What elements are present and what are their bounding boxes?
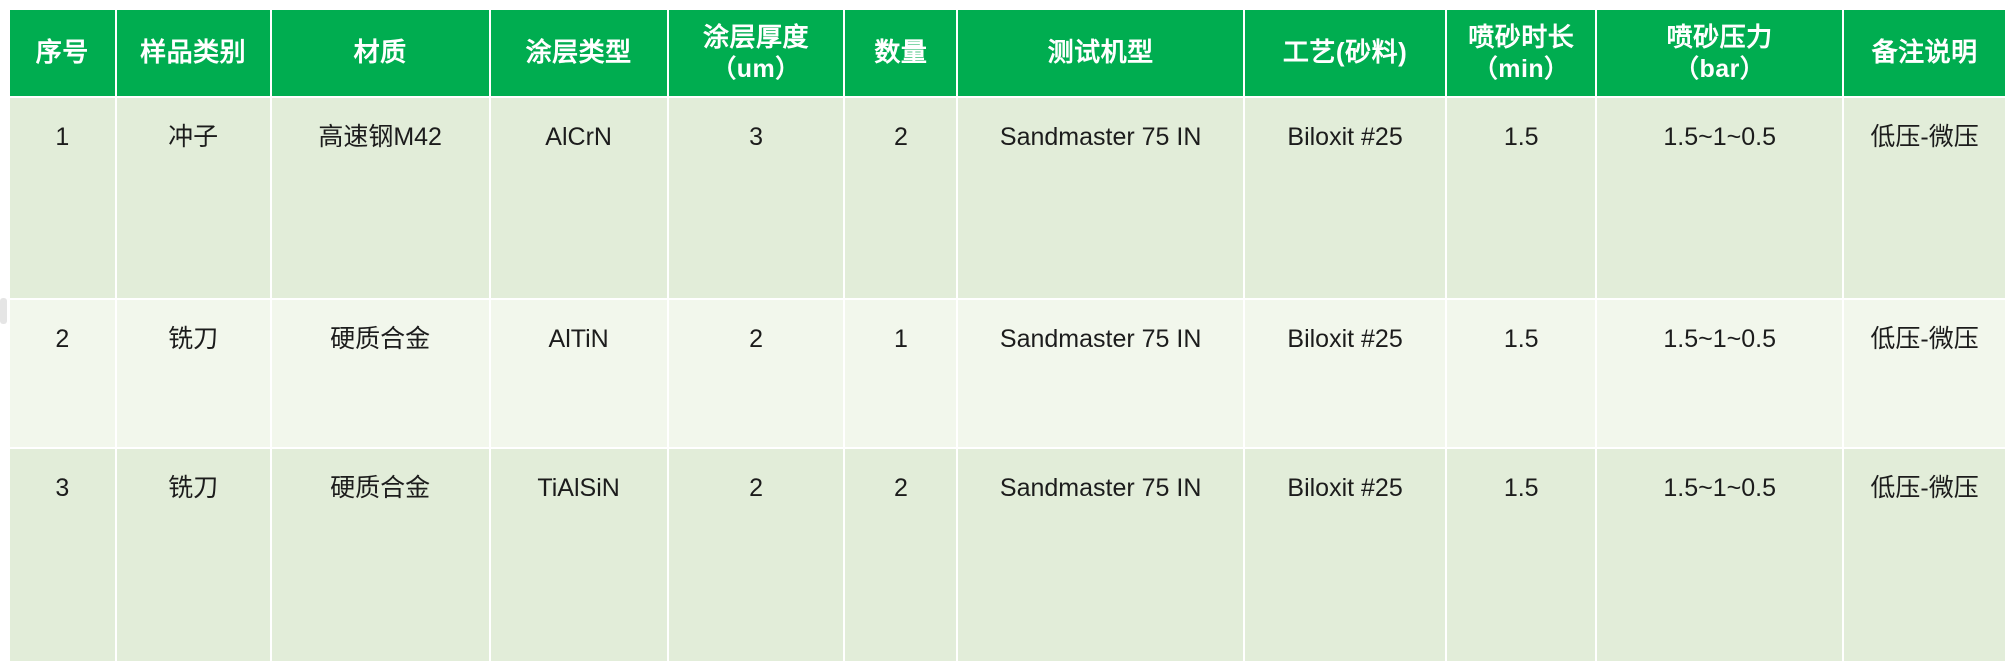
column-header-blasttime[interactable]: 喷砂时长（min） (1447, 10, 1595, 96)
table-row[interactable]: 2铣刀硬质合金AlTiN21Sandmaster 75 INBiloxit #2… (10, 300, 2005, 447)
table-body: 1冲子高速钢M42AlCrN32Sandmaster 75 INBiloxit … (10, 98, 2005, 661)
cell-coating: AlTiN (491, 300, 667, 447)
table-row[interactable]: 1冲子高速钢M42AlCrN32Sandmaster 75 INBiloxit … (10, 98, 2005, 298)
cell-index: 2 (10, 300, 115, 447)
column-header-label: 备注说明 (1872, 37, 1978, 67)
column-header-label: 喷砂时长 (1468, 22, 1574, 52)
column-header-label: 涂层类型 (526, 37, 632, 67)
header-row: 序号样品类别材质涂层类型涂层厚度（um）数量测试机型工艺(砂料)喷砂时长（min… (10, 10, 2005, 96)
cell-quantity: 2 (845, 98, 956, 298)
cell-category: 铣刀 (117, 449, 270, 661)
cell-thickness: 2 (669, 300, 844, 447)
column-header-label: 喷砂压力 (1667, 22, 1773, 52)
table-header: 序号样品类别材质涂层类型涂层厚度（um）数量测试机型工艺(砂料)喷砂时长（min… (10, 10, 2005, 96)
column-header-pressure[interactable]: 喷砂压力（bar） (1597, 10, 1842, 96)
cell-thickness: 3 (669, 98, 844, 298)
cell-blasttime: 1.5 (1447, 98, 1595, 298)
cell-process: Biloxit #25 (1245, 300, 1445, 447)
column-header-label: 材质 (354, 37, 407, 67)
cell-pressure: 1.5~1~0.5 (1597, 300, 1842, 447)
column-header-label: 样品类别 (140, 37, 246, 67)
cell-process: Biloxit #25 (1245, 98, 1445, 298)
cell-machine: Sandmaster 75 IN (958, 98, 1243, 298)
cell-index: 1 (10, 98, 115, 298)
cell-thickness: 2 (669, 449, 844, 661)
cell-remark: 低压-微压 (1844, 98, 2005, 298)
column-header-coating[interactable]: 涂层类型 (491, 10, 667, 96)
cell-category: 铣刀 (117, 300, 270, 447)
spec-table-container: 序号样品类别材质涂层类型涂层厚度（um）数量测试机型工艺(砂料)喷砂时长（min… (8, 8, 2007, 663)
column-header-label: 工艺(砂料) (1283, 37, 1407, 67)
cell-index: 3 (10, 449, 115, 661)
cell-material: 高速钢M42 (272, 98, 489, 298)
cell-machine: Sandmaster 75 IN (958, 300, 1243, 447)
column-header-label: 测试机型 (1048, 37, 1154, 67)
column-header-process[interactable]: 工艺(砂料) (1245, 10, 1445, 96)
table-row[interactable]: 3铣刀硬质合金TiAlSiN22Sandmaster 75 INBiloxit … (10, 449, 2005, 661)
column-header-unit: （min） (1449, 54, 1593, 85)
cell-remark: 低压-微压 (1844, 300, 2005, 447)
cell-pressure: 1.5~1~0.5 (1597, 98, 1842, 298)
cell-coating: AlCrN (491, 98, 667, 298)
cell-material: 硬质合金 (272, 449, 489, 661)
column-header-label: 序号 (36, 37, 89, 67)
cell-coating: TiAlSiN (491, 449, 667, 661)
cell-material: 硬质合金 (272, 300, 489, 447)
cell-quantity: 2 (845, 449, 956, 661)
cell-process: Biloxit #25 (1245, 449, 1445, 661)
column-header-label: 数量 (874, 37, 927, 67)
sample-specification-table: 序号样品类别材质涂层类型涂层厚度（um）数量测试机型工艺(砂料)喷砂时长（min… (8, 8, 2007, 663)
column-header-quantity[interactable]: 数量 (845, 10, 956, 96)
column-header-category[interactable]: 样品类别 (117, 10, 270, 96)
column-header-machine[interactable]: 测试机型 (958, 10, 1243, 96)
cell-remark: 低压-微压 (1844, 449, 2005, 661)
column-header-label: 涂层厚度 (703, 22, 809, 52)
cell-pressure: 1.5~1~0.5 (1597, 449, 1842, 661)
column-header-material[interactable]: 材质 (272, 10, 489, 96)
scan-edge-artifact (0, 298, 7, 324)
column-header-thickness[interactable]: 涂层厚度（um） (669, 10, 844, 96)
cell-blasttime: 1.5 (1447, 300, 1595, 447)
column-header-index[interactable]: 序号 (10, 10, 115, 96)
cell-quantity: 1 (845, 300, 956, 447)
cell-blasttime: 1.5 (1447, 449, 1595, 661)
column-header-unit: （um） (671, 54, 842, 85)
cell-category: 冲子 (117, 98, 270, 298)
column-header-unit: （bar） (1599, 54, 1840, 85)
cell-machine: Sandmaster 75 IN (958, 449, 1243, 661)
column-header-remark[interactable]: 备注说明 (1844, 10, 2005, 96)
